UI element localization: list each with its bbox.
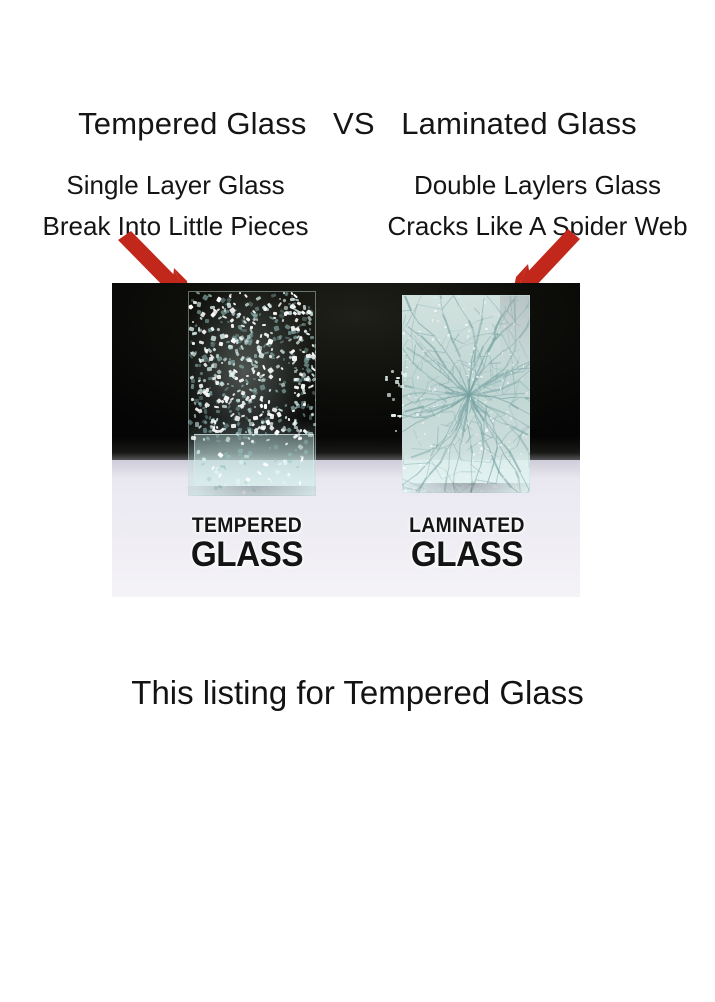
stray-shard bbox=[391, 370, 393, 373]
stray-shard bbox=[403, 373, 407, 377]
stray-shard bbox=[397, 415, 402, 417]
stray-shard bbox=[385, 378, 388, 381]
laminated-glass-panel bbox=[402, 295, 530, 493]
laminated-panel-edge bbox=[402, 295, 530, 493]
photo-label-tempered-top: TEMPERED bbox=[149, 515, 346, 537]
page-title: Tempered Glass VS Laminated Glass bbox=[0, 104, 715, 144]
subcaption-tempered: Single Layer Glass Break Into Little Pie… bbox=[8, 165, 343, 247]
subcaption-row: Single Layer Glass Break Into Little Pie… bbox=[0, 165, 715, 247]
photo-label-tempered-big: GLASS bbox=[145, 537, 348, 573]
comparison-photo: TEMPERED GLASS LAMINATED GLASS bbox=[112, 283, 580, 597]
stray-shard bbox=[400, 385, 404, 388]
stray-shard bbox=[391, 414, 396, 417]
laminated-panel-shadow bbox=[402, 483, 530, 493]
stray-shard bbox=[392, 398, 395, 401]
listing-note: This listing for Tempered Glass bbox=[0, 670, 715, 716]
stray-shard bbox=[395, 380, 399, 384]
photo-label-tempered: TEMPERED GLASS bbox=[140, 515, 354, 573]
photo-label-laminated-top: LAMINATED bbox=[369, 515, 566, 537]
photo-label-laminated: LAMINATED GLASS bbox=[360, 515, 574, 573]
subcaption-laminated-line2: Cracks Like A Spider Web bbox=[360, 206, 715, 247]
stray-shard bbox=[387, 393, 391, 397]
poster-canvas: Tempered Glass VS Laminated Glass Single… bbox=[0, 0, 715, 1002]
subcaption-laminated: Double Laylers Glass Cracks Like A Spide… bbox=[360, 165, 715, 247]
stray-shard bbox=[402, 404, 404, 407]
subcaption-tempered-line1: Single Layer Glass bbox=[8, 165, 343, 206]
subcaption-laminated-line1: Double Laylers Glass bbox=[360, 165, 715, 206]
tempered-glass-panel bbox=[188, 291, 316, 496]
subcaption-tempered-line2: Break Into Little Pieces bbox=[8, 206, 343, 247]
photo-label-laminated-big: GLASS bbox=[365, 537, 568, 573]
tempered-panel-shadow bbox=[188, 486, 316, 496]
tempered-panel-edge bbox=[188, 291, 316, 496]
